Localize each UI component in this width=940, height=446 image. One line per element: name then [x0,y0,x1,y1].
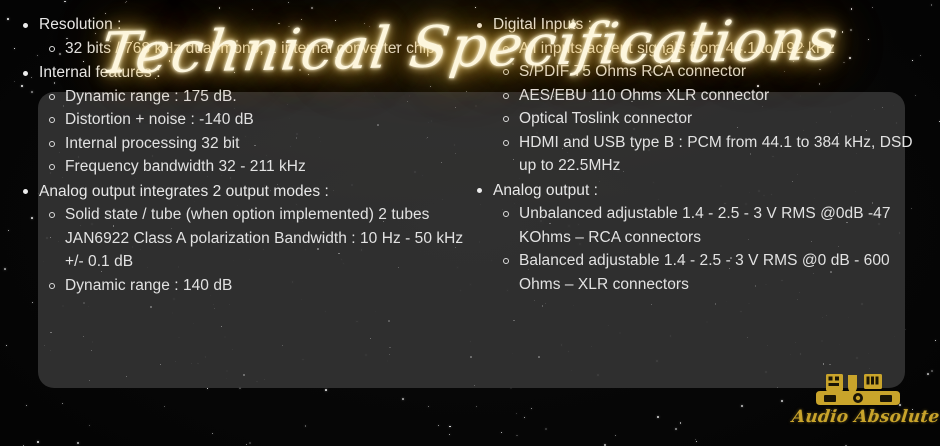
brand-name: Audio Absolute [791,408,925,427]
spec-item: Internal processing 32 bit [44,132,468,156]
spec-item: Unbalanced adjustable 1.4 - 2.5 - 3 V RM… [498,202,926,249]
spec-item: HDMI and USB type B : PCM from 44.1 to 3… [498,131,926,178]
spec-group-heading: Analog output : [470,179,926,203]
spec-item-list: Solid state / tube (when option implemen… [44,203,468,297]
spec-item-list: Dynamic range : 175 dB.Distortion + nois… [44,85,468,179]
spec-item: Balanced adjustable 1.4 - 2.5 - 3 V RMS … [498,249,926,296]
spec-item-text: Internal processing 32 bit [65,135,240,152]
bullet-ring-icon [49,94,55,100]
title-container: Technical Specifications [0,10,940,84]
spec-item: Dynamic range : 140 dB [44,274,468,298]
spec-item: Solid state / tube (when option implemen… [44,203,468,274]
spec-item-text: Frequency bandwidth 32 - 211 kHz [65,158,306,175]
spec-item-text: HDMI and USB type B : PCM from 44.1 to 3… [519,134,913,175]
bullet-ring-icon [49,164,55,170]
bullet-ring-icon [49,141,55,147]
bullet-ring-icon [503,116,509,122]
spec-item-text: Dynamic range : 175 dB. [65,88,237,105]
bullet-ring-icon [49,283,55,289]
spec-item: Distortion + noise : -140 dB [44,108,468,132]
bullet-ring-icon [49,117,55,123]
bullet-ring-icon [503,258,509,264]
slide-root: Technical Specifications Resolution :32 … [0,0,940,446]
bullet-ring-icon [503,211,509,217]
page-title: Technical Specifications [96,3,844,91]
spec-item-list: Unbalanced adjustable 1.4 - 2.5 - 3 V RM… [498,202,926,296]
brand-logo: Audio Absolute [792,372,924,438]
spec-item-text: Optical Toslink connector [519,110,692,127]
spec-item-text: Unbalanced adjustable 1.4 - 2.5 - 3 V RM… [519,205,891,246]
spec-group-label: Analog output integrates 2 output modes … [39,183,329,200]
bullet-disc-icon [477,188,482,193]
bullet-ring-icon [49,212,55,218]
bullet-ring-icon [503,93,509,99]
bullet-disc-icon [23,189,28,194]
tube-amplifier-icon [810,372,906,412]
spec-group-heading: Analog output integrates 2 output modes … [16,180,468,204]
spec-item-text: Solid state / tube (when option implemen… [65,206,463,270]
spec-item-text: Distortion + noise : -140 dB [65,111,254,128]
spec-group-label: Analog output : [493,182,598,199]
spec-item: AES/EBU 110 Ohms XLR connector [498,84,926,108]
spec-item-text: AES/EBU 110 Ohms XLR connector [519,87,769,104]
spec-item-text: Dynamic range : 140 dB [65,277,232,294]
spec-item-text: Balanced adjustable 1.4 - 2.5 - 3 V RMS … [519,252,890,293]
spec-item: Frequency bandwidth 32 - 211 kHz [44,155,468,179]
bullet-ring-icon [503,140,509,146]
spec-item: Optical Toslink connector [498,107,926,131]
